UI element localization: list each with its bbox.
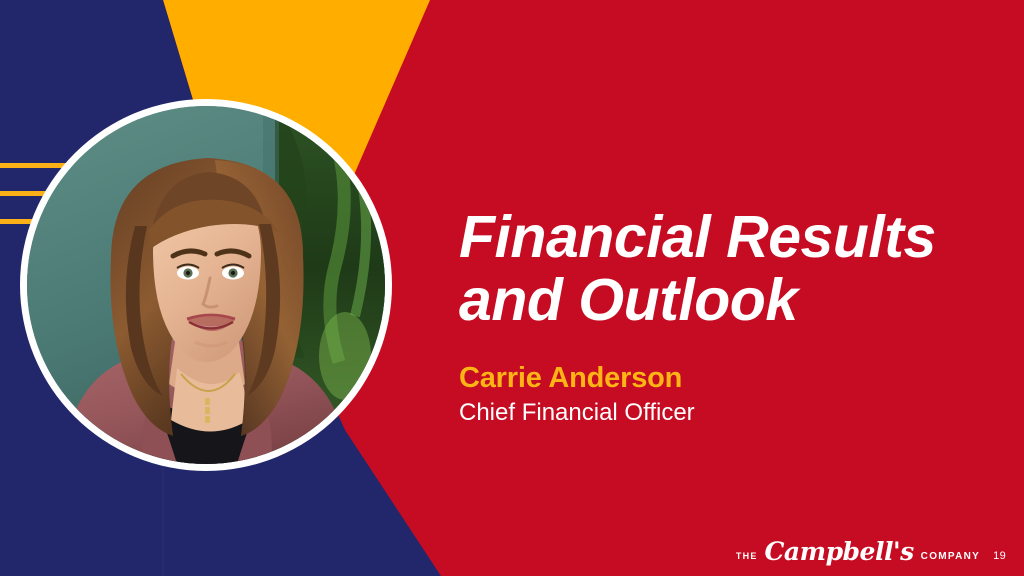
page-title-line-1: Financial Results [459,204,936,270]
campbells-logo: THE Campbell's COMPANY 19 [736,538,1006,563]
logo-the-text: THE [736,551,758,561]
presentation-slide: Financial Resultsand Outlook Carrie Ande… [0,0,1024,576]
logo-wordmark: Campbell's [765,539,914,564]
page-title-line-2: and Outlook [459,267,798,333]
speaker-name: Carrie Anderson [459,362,999,395]
page-title: Financial Resultsand Outlook [459,206,999,332]
slide-text-block: Financial Resultsand Outlook Carrie Ande… [459,206,999,427]
speaker-role: Chief Financial Officer [459,399,999,427]
logo-company-text: COMPANY [921,551,980,562]
speaker-portrait-photo [27,106,385,464]
portrait-clip [27,106,385,464]
page-number: 19 [993,550,1006,562]
portrait-frame [20,99,392,471]
